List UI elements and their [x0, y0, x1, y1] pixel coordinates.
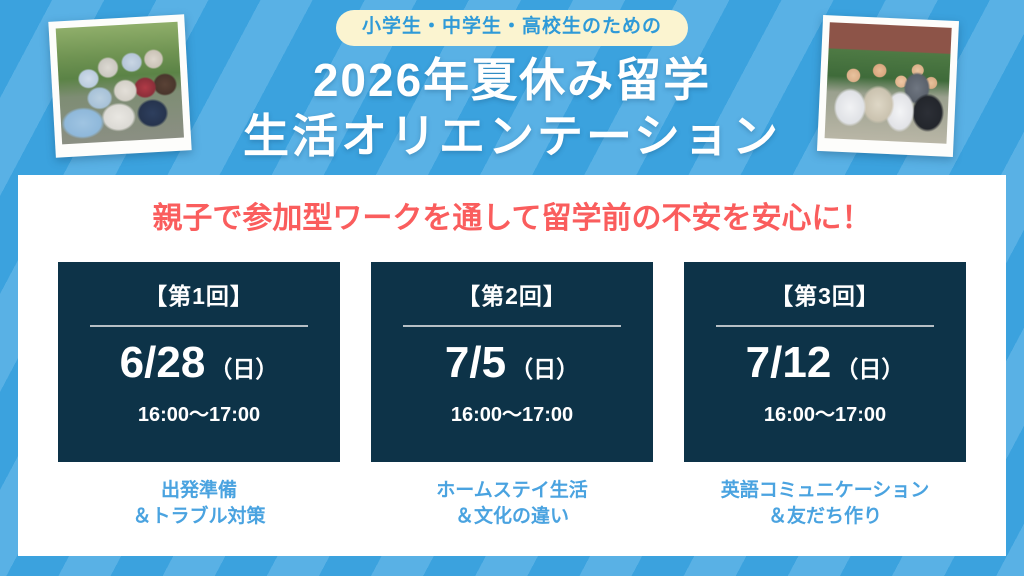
session-divider: [716, 325, 934, 327]
session-topic-line-1: 英語コミュニケーション: [684, 478, 966, 504]
session-card: 【第1回】 6/28 （日） 16:00〜17:00: [58, 262, 340, 462]
session-round-label: 【第3回】: [702, 284, 948, 309]
session-topic-line-2: ＆トラブル対策: [58, 504, 340, 530]
session-topic-line-2: ＆文化の違い: [371, 504, 653, 530]
session-card: 【第2回】 7/5 （日） 16:00〜17:00: [371, 262, 653, 462]
session-topic: 英語コミュニケーション ＆友だち作り: [684, 478, 966, 529]
session-round-label: 【第2回】: [389, 284, 635, 309]
session-time: 16:00〜17:00: [389, 398, 635, 427]
session-dateline: 6/28 （日）: [76, 341, 322, 385]
session-divider: [403, 325, 621, 327]
session-time: 16:00〜17:00: [702, 398, 948, 427]
session-date: 6/28: [120, 341, 206, 385]
session-date: 7/5: [445, 341, 506, 385]
session-topic-line-2: ＆友だち作り: [684, 504, 966, 530]
session-item: 【第3回】 7/12 （日） 16:00〜17:00 英語コミュニケーション ＆…: [684, 262, 966, 529]
session-topic-line-1: ホームステイ生活: [371, 478, 653, 504]
session-topic: ホームステイ生活 ＆文化の違い: [371, 478, 653, 529]
session-list: 【第1回】 6/28 （日） 16:00〜17:00 出発準備 ＆トラブル対策 …: [58, 262, 966, 529]
session-item: 【第2回】 7/5 （日） 16:00〜17:00 ホームステイ生活 ＆文化の違…: [371, 262, 653, 529]
banner-header: 小学生・中学生・高校生のための 2026年夏休み留学 生活オリエンテーション: [0, 0, 1024, 175]
session-date: 7/12: [746, 341, 832, 385]
session-dateline: 7/12 （日）: [702, 341, 948, 385]
page-title-line-1: 2026年夏休み留学: [0, 52, 1024, 108]
session-round-label: 【第1回】: [76, 284, 322, 309]
session-time: 16:00〜17:00: [76, 398, 322, 427]
session-card: 【第3回】 7/12 （日） 16:00〜17:00: [684, 262, 966, 462]
session-day-of-week: （日）: [835, 350, 904, 384]
session-dateline: 7/5 （日）: [389, 341, 635, 385]
session-topic: 出発準備 ＆トラブル対策: [58, 478, 340, 529]
banner-background: 小学生・中学生・高校生のための 2026年夏休み留学 生活オリエンテーション 親…: [0, 0, 1024, 576]
session-day-of-week: （日）: [510, 350, 579, 384]
session-topic-line-1: 出発準備: [58, 478, 340, 504]
page-title-line-2: 生活オリエンテーション: [0, 108, 1024, 164]
session-divider: [90, 325, 308, 327]
session-item: 【第1回】 6/28 （日） 16:00〜17:00 出発準備 ＆トラブル対策: [58, 262, 340, 529]
content-panel: 親子で参加型ワークを通して留学前の不安を安心に！ 【第1回】 6/28 （日） …: [18, 175, 1006, 556]
page-title: 2026年夏休み留学 生活オリエンテーション: [0, 52, 1024, 164]
subtitle: 親子で参加型ワークを通して留学前の不安を安心に！: [18, 193, 1006, 237]
session-day-of-week: （日）: [209, 350, 278, 384]
audience-badge: 小学生・中学生・高校生のための: [336, 10, 688, 46]
